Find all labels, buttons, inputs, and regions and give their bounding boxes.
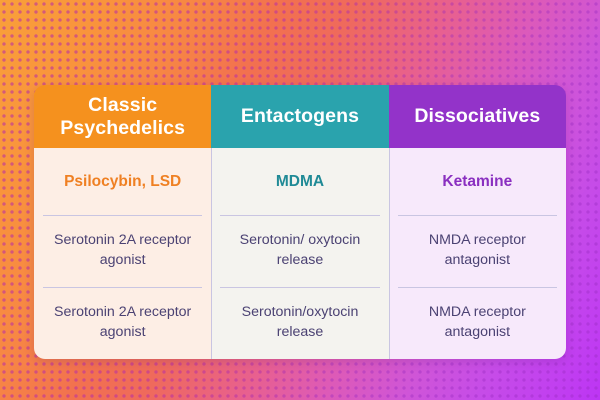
table-column-dissociatives: Dissociatives Ketamine NMDA receptor ant… [389,85,566,359]
table-cell-mechanism-secondary: Serotonin/oxytocin release [211,287,388,359]
table-cell-drug-names: MDMA [211,148,388,215]
table-cell-mechanism-secondary: Serotonin 2A receptor agonist [34,287,211,359]
table-column-classic-psychedelics: Classic Psychedelics Psilocybin, LSD Ser… [34,85,211,359]
table-cell-drug-names: Psilocybin, LSD [34,148,211,215]
column-header-dissociatives: Dissociatives [389,85,566,148]
table-cell-mechanism-primary: Serotonin/ oxytocin release [211,215,388,287]
column-header-classic-psychedelics: Classic Psychedelics [34,85,211,148]
table-cell-mechanism-primary: Serotonin 2A receptor agonist [34,215,211,287]
column-body-classic-psychedelics: Psilocybin, LSD Serotonin 2A receptor ag… [34,148,211,359]
table-column-entactogens: Entactogens MDMA Serotonin/ oxytocin rel… [211,85,388,359]
column-body-entactogens: MDMA Serotonin/ oxytocin release Seroton… [211,148,388,359]
table-cell-drug-names: Ketamine [389,148,566,215]
poster-canvas: Classic Psychedelics Psilocybin, LSD Ser… [0,0,600,400]
table-cell-mechanism-secondary: NMDA receptor antagonist [389,287,566,359]
column-header-entactogens: Entactogens [211,85,388,148]
comparison-table-card: Classic Psychedelics Psilocybin, LSD Ser… [34,85,566,359]
column-body-dissociatives: Ketamine NMDA receptor antagonist NMDA r… [389,148,566,359]
table-cell-mechanism-primary: NMDA receptor antagonist [389,215,566,287]
